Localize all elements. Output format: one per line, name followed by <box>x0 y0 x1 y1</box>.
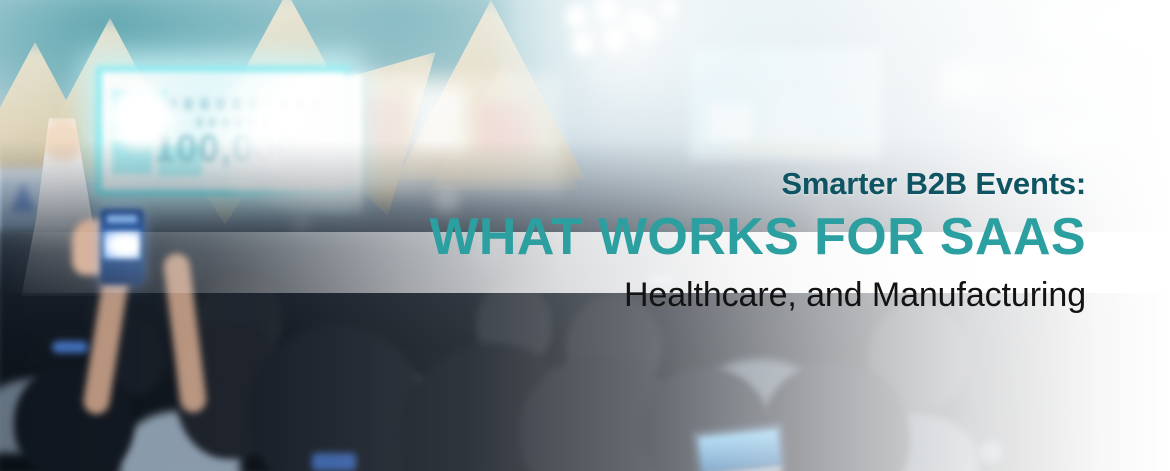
event-banner: 100,000 <box>0 0 1170 471</box>
banner-headline: WHAT WORKS FOR SAAS <box>246 209 1086 265</box>
banner-copy: Smarter B2B Events: WHAT WORKS FOR SAAS … <box>246 168 1086 314</box>
banner-subline: Healthcare, and Manufacturing <box>246 277 1086 314</box>
banner-kicker: Smarter B2B Events: <box>246 168 1086 200</box>
